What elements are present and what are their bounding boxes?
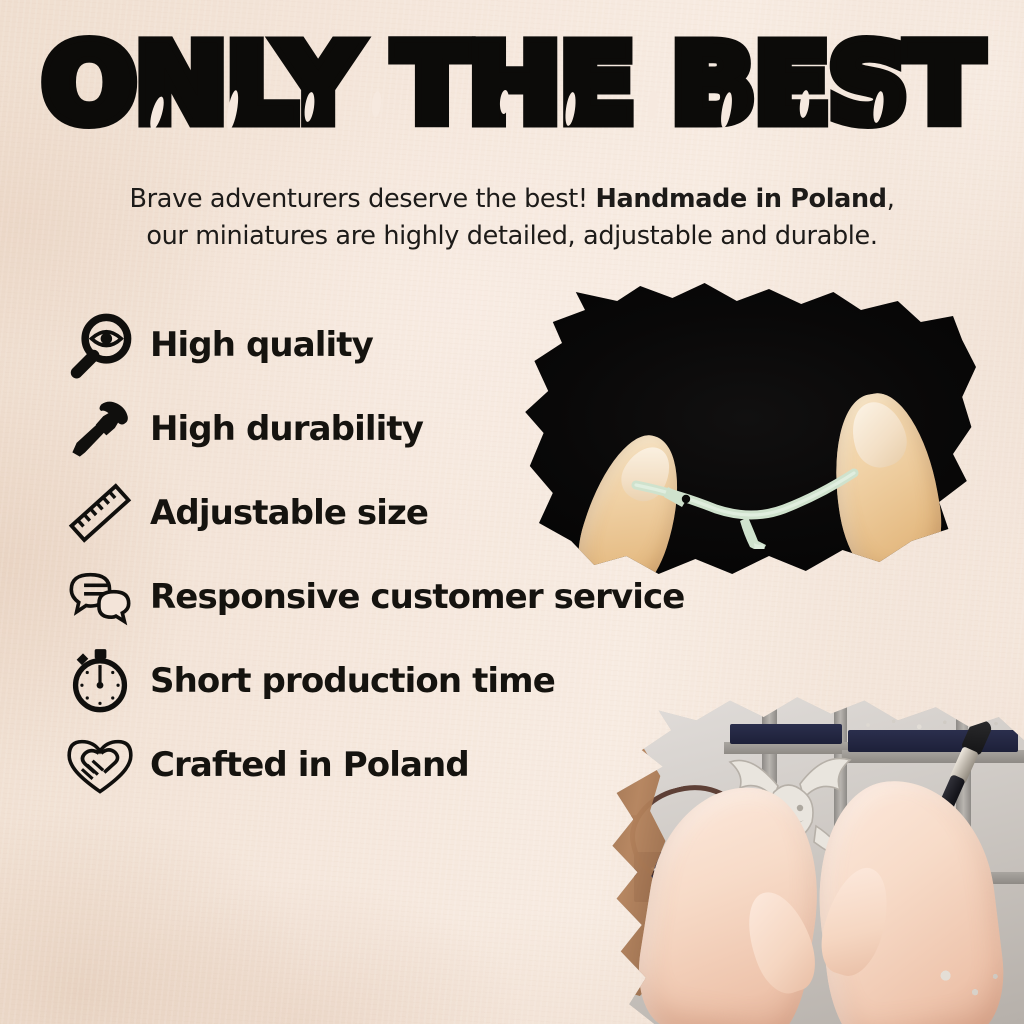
subtitle: Brave adventurers deserve the best! Hand… (0, 181, 1024, 254)
ruler-icon (66, 479, 134, 547)
feature-label: Responsive customer service (150, 577, 684, 617)
photo-scene (604, 694, 1024, 1024)
speech-bubbles-icon (66, 563, 134, 631)
stopwatch-icon (66, 647, 134, 715)
subtitle-line-1: Brave adventurers deserve the best! Hand… (0, 181, 1024, 218)
torn-paper-mask (604, 694, 1024, 1024)
promo-poster: ONLY THE BEST Brave adventurers deserve … (0, 0, 1024, 1024)
subtitle-line-2: our miniatures are highly detailed, adju… (0, 218, 1024, 255)
headline-container: ONLY THE BEST (0, 34, 1024, 137)
page-title: ONLY THE BEST (43, 34, 982, 137)
flexible-miniature-photo (516, 283, 976, 583)
subtitle-lead: Brave adventurers deserve the best! (130, 184, 596, 214)
subtitle-emphasis: Handmade in Poland (595, 184, 886, 214)
photo-scene (516, 283, 976, 583)
feature-label: Crafted in Poland (150, 745, 469, 785)
subtitle-tail: , (887, 184, 895, 214)
handshake-heart-icon (66, 731, 134, 799)
loose-miniatures (918, 936, 1010, 1008)
workshop-painting-photo (604, 694, 1024, 1024)
feature-label: Adjustable size (150, 493, 428, 533)
feature-label: Short production time (150, 661, 555, 701)
thumb (812, 860, 900, 982)
mint-resin-miniature-part (628, 459, 868, 549)
feature-label: High quality (150, 325, 373, 365)
feature-label: High durability (150, 409, 423, 449)
hammer-icon (66, 395, 134, 463)
magnifier-eye-icon (66, 311, 134, 379)
torn-paper-mask (516, 283, 976, 583)
